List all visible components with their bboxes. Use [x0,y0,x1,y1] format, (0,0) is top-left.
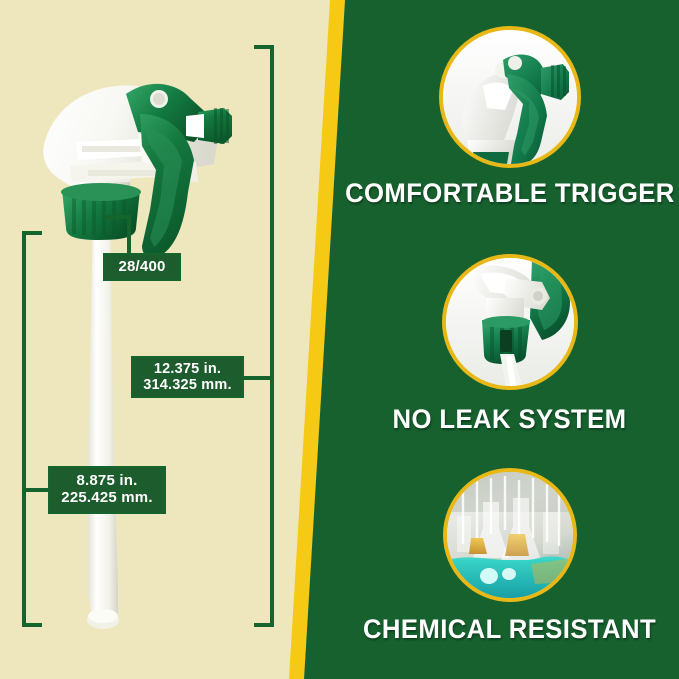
callout-neck-line-1: 28/400 [118,259,165,276]
sprayer-collar-closeup-icon [446,258,574,386]
neck-callout-leader-foot [104,215,131,219]
infographic-canvas: 28/400 12.375 in. 314.325 mm. 8.875 in. … [0,0,679,679]
feature-chemical-resistant: CHEMICAL RESISTANT [340,472,679,645]
feature-image-comfortable-trigger [443,30,577,164]
callout-dip-tube-length: 8.875 in. 225.425 mm. [48,466,166,514]
feature-no-leak-system: NO LEAK SYSTEM [340,258,679,435]
callout-overall-length: 12.375 in. 314.325 mm. [131,356,244,398]
feature-title-chemical-resistant: CHEMICAL RESISTANT [345,614,674,645]
feature-image-no-leak-system [446,258,574,386]
callout-neck-finish: 28/400 [103,253,181,281]
callout-overall-line-2: 314.325 mm. [143,377,231,393]
feature-title-no-leak-system: NO LEAK SYSTEM [345,404,674,435]
feature-comfortable-trigger: COMFORTABLE TRIGGER [340,30,679,209]
callout-tube-line-2: 225.425 mm. [61,490,152,507]
feature-image-chemical-resistant [447,472,573,598]
trigger-sprayer-illustration [18,42,268,642]
lab-glassware-photo-icon [447,472,573,598]
neck-callout-leader [127,215,131,255]
callout-tube-line-1: 8.875 in. [76,473,137,490]
feature-title-comfortable-trigger: COMFORTABLE TRIGGER [345,178,674,209]
callout-overall-line-1: 12.375 in. [154,361,221,377]
sprayer-trigger-closeup-icon [443,30,577,164]
